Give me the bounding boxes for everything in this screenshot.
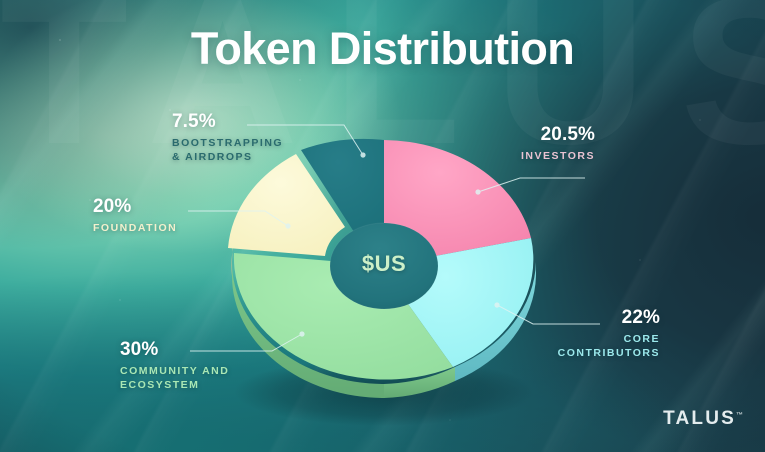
callout-label-line1: CORE: [558, 332, 660, 347]
callout-label: CORE CONTRIBUTORS: [558, 332, 660, 362]
callout-investors: 20.5% INVESTORS: [521, 125, 595, 163]
callout-label-line1: FOUNDATION: [93, 221, 177, 236]
trademark-symbol: ™: [736, 412, 743, 419]
talus-logo-text: TALUS: [663, 408, 736, 429]
callout-core-contributors: 22% CORE CONTRIBUTORS: [558, 308, 660, 361]
callout-label: FOUNDATION: [93, 221, 177, 236]
callout-percent: 22%: [558, 308, 660, 329]
callout-percent: 7.5%: [172, 112, 283, 133]
talus-logo: TALUS™: [663, 408, 743, 430]
callout-percent: 30%: [120, 340, 229, 361]
callout-bootstrapping-airdrops: 7.5% BOOTSTRAPPING & AIRDROPS: [172, 112, 283, 165]
callout-label-line2: ECOSYSTEM: [120, 378, 229, 393]
callout-label-line2: CONTRIBUTORS: [558, 346, 660, 361]
donut-center-label: $US: [334, 251, 434, 277]
callout-percent: 20.5%: [521, 125, 595, 146]
callout-label: COMMUNITY AND ECOSYSTEM: [120, 364, 229, 394]
callout-label-line1: INVESTORS: [521, 149, 595, 164]
callout-label-line2: & AIRDROPS: [172, 150, 283, 165]
callout-percent: 20%: [93, 197, 177, 218]
callout-label-line1: BOOTSTRAPPING: [172, 136, 283, 151]
callout-label: BOOTSTRAPPING & AIRDROPS: [172, 136, 283, 166]
callout-foundation: 20% FOUNDATION: [93, 197, 177, 235]
token-distribution-infographic: TALUS Token Distribution: [0, 0, 765, 452]
callout-label: INVESTORS: [521, 149, 595, 164]
callout-label-line1: COMMUNITY AND: [120, 364, 229, 379]
callout-community-ecosystem: 30% COMMUNITY AND ECOSYSTEM: [120, 340, 229, 393]
